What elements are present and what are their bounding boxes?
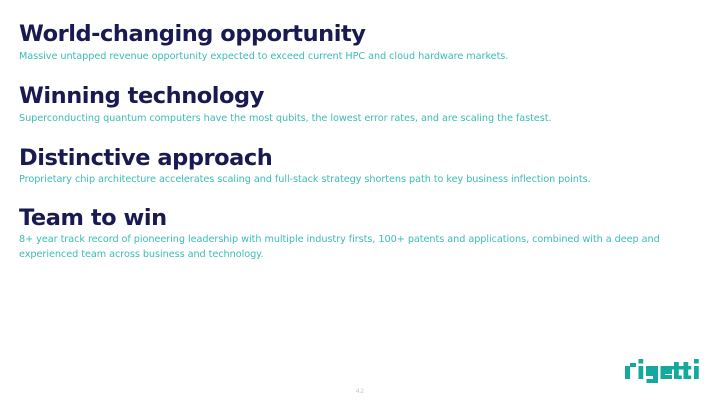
- slide-section: Distinctive approach Proprietary chip ar…: [19, 145, 703, 188]
- section-list: World-changing opportunity Massive untap…: [19, 21, 703, 263]
- section-heading: Team to win: [19, 205, 703, 232]
- rigetti-wordmark-icon: [624, 358, 702, 384]
- slide-section: Team to win 8+ year track record of pion…: [19, 205, 703, 263]
- section-heading: World-changing opportunity: [19, 21, 703, 48]
- rigetti-logo: [624, 358, 702, 384]
- section-body: Proprietary chip architecture accelerate…: [19, 173, 703, 188]
- slide-canvas: World-changing opportunity Massive untap…: [0, 0, 720, 405]
- section-heading: Distinctive approach: [19, 145, 703, 172]
- section-heading: Winning technology: [19, 83, 703, 110]
- section-body: Massive untapped revenue opportunity exp…: [19, 50, 703, 65]
- page-number: 42: [0, 387, 720, 395]
- slide-section: Winning technology Superconducting quant…: [19, 83, 703, 126]
- slide-section: World-changing opportunity Massive untap…: [19, 21, 703, 64]
- section-body: Superconducting quantum computers have t…: [19, 112, 703, 127]
- section-body: 8+ year track record of pioneering leade…: [19, 233, 703, 262]
